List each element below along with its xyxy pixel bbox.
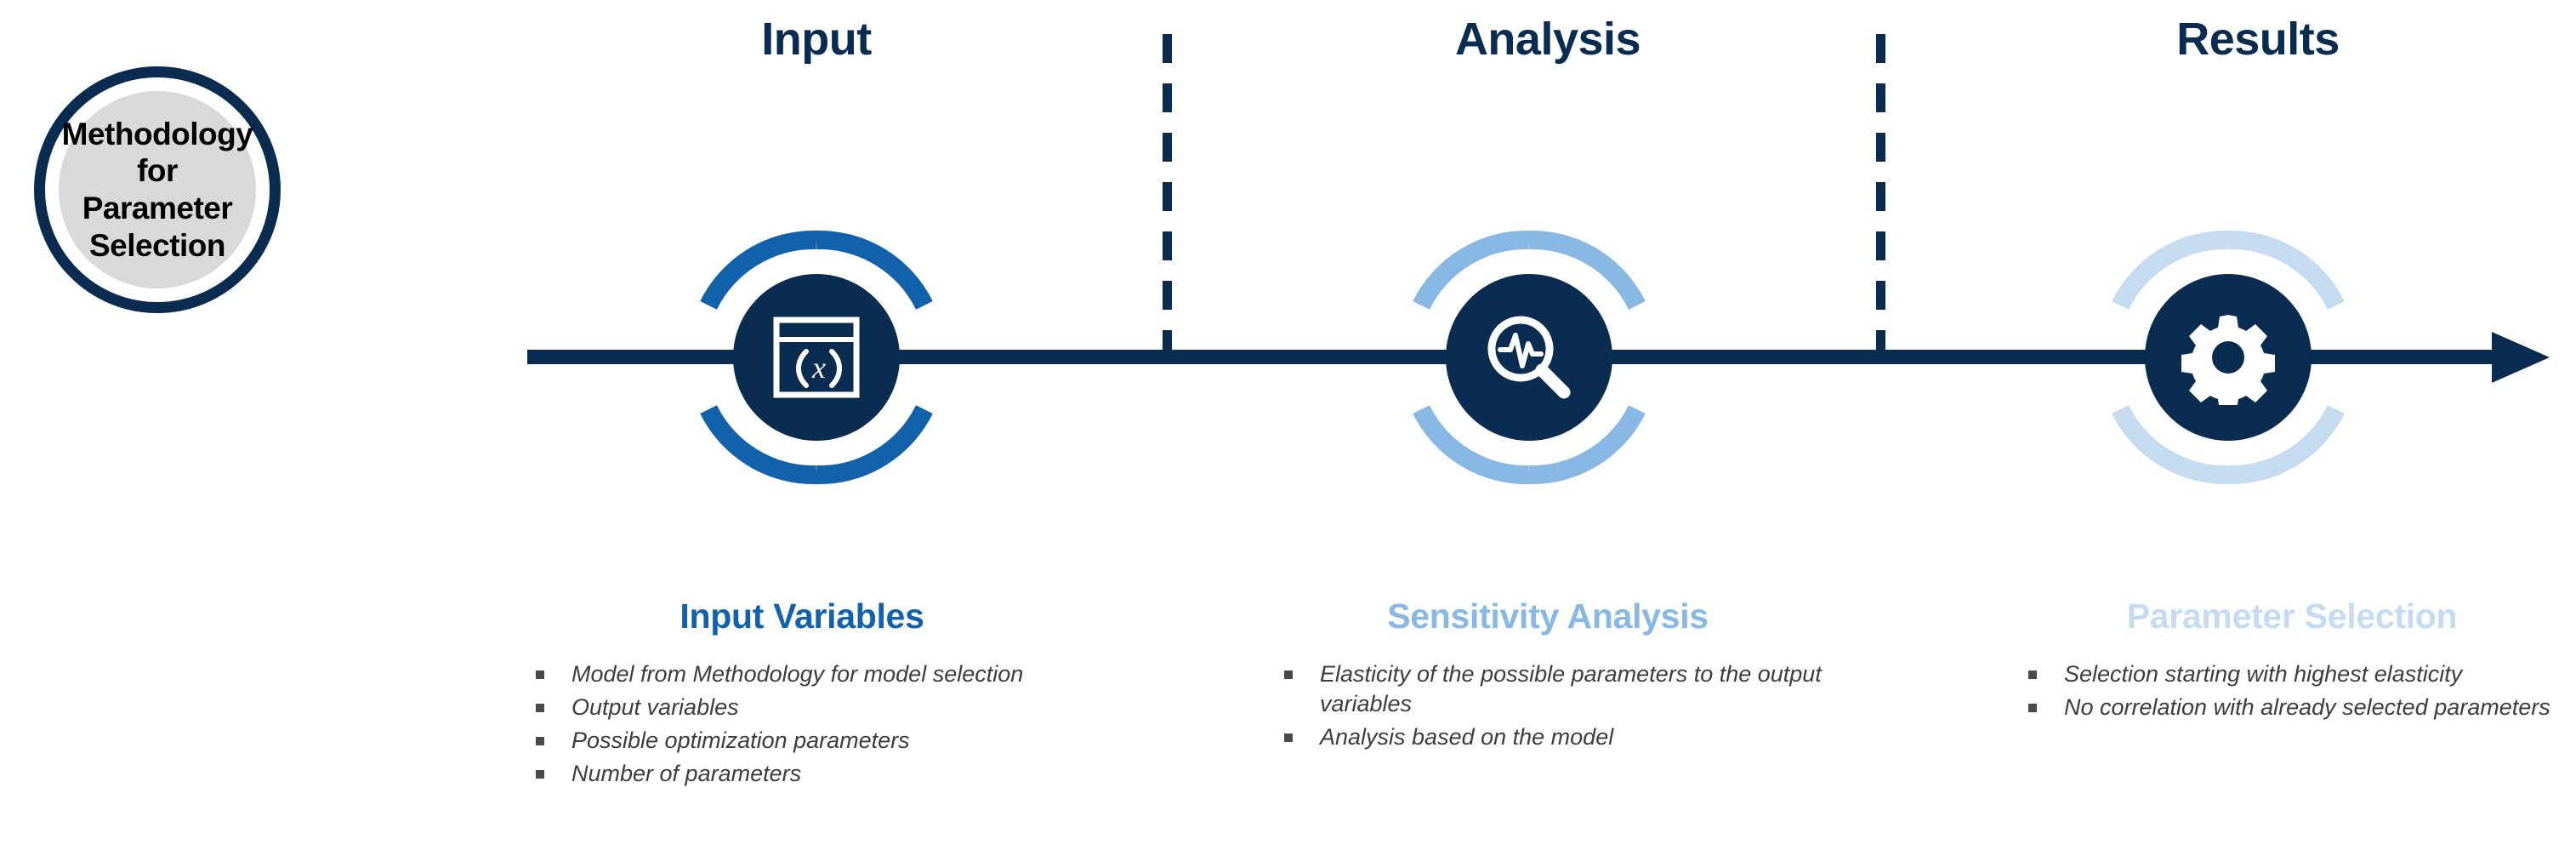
- magnifier-pulse-icon: [1481, 310, 1577, 405]
- list-item: Model from Methodology for model selecti…: [536, 659, 1097, 689]
- list-item: Selection starting with highest elastici…: [2028, 659, 2576, 689]
- list-item: Number of parameters: [536, 759, 1097, 789]
- methodology-hero-fill: Methodology for Parameter Selection: [59, 91, 256, 288]
- step-node-analysis[interactable]: [1402, 230, 1657, 485]
- process-arrow-head-icon: [2492, 332, 2550, 383]
- list-item: Analysis based on the model: [1284, 722, 1845, 752]
- list-item: No correlation with already selected par…: [2028, 693, 2576, 722]
- dashed-divider-after-analysis: [1876, 34, 1885, 357]
- column-title-input-variables: Input Variables: [502, 597, 1097, 636]
- step-node-results[interactable]: [2101, 230, 2356, 485]
- process-diagram-canvas: Input Analysis Results Methodology for P…: [0, 0, 2576, 856]
- details-column-analysis: Sensitivity Analysis Elasticity of the p…: [1250, 597, 1845, 756]
- svg-text:x: x: [811, 351, 826, 385]
- stage-heading-results: Results: [2079, 15, 2437, 64]
- dashed-divider-after-input: [1163, 34, 1172, 357]
- list-item: Possible optimization parameters: [536, 726, 1097, 756]
- bullet-list-analysis: Elasticity of the possible parameters to…: [1250, 659, 1845, 752]
- stage-heading-analysis: Analysis: [1369, 15, 1726, 64]
- step-node-input[interactable]: x: [689, 230, 944, 485]
- column-title-parameter-selection: Parameter Selection: [1994, 597, 2576, 636]
- details-column-results: Parameter Selection Selection starting w…: [1994, 597, 2576, 726]
- window-function-icon: x: [772, 316, 861, 399]
- column-title-sensitivity-analysis: Sensitivity Analysis: [1250, 597, 1845, 636]
- bullet-list-results: Selection starting with highest elastici…: [1994, 659, 2576, 722]
- bullet-list-input: Model from Methodology for model selecti…: [502, 659, 1097, 789]
- methodology-hero-label: Methodology for Parameter Selection: [59, 116, 256, 265]
- step-disc-results: [2145, 274, 2312, 441]
- list-item: Output variables: [536, 693, 1097, 722]
- list-item: Elasticity of the possible parameters to…: [1284, 659, 1845, 719]
- gear-icon: [2181, 310, 2276, 405]
- stage-heading-input: Input: [638, 15, 995, 64]
- step-disc-input: x: [733, 274, 900, 441]
- step-disc-analysis: [1446, 274, 1612, 441]
- details-column-input: Input Variables Model from Methodology f…: [502, 597, 1097, 792]
- methodology-hero-circle: Methodology for Parameter Selection: [34, 66, 281, 313]
